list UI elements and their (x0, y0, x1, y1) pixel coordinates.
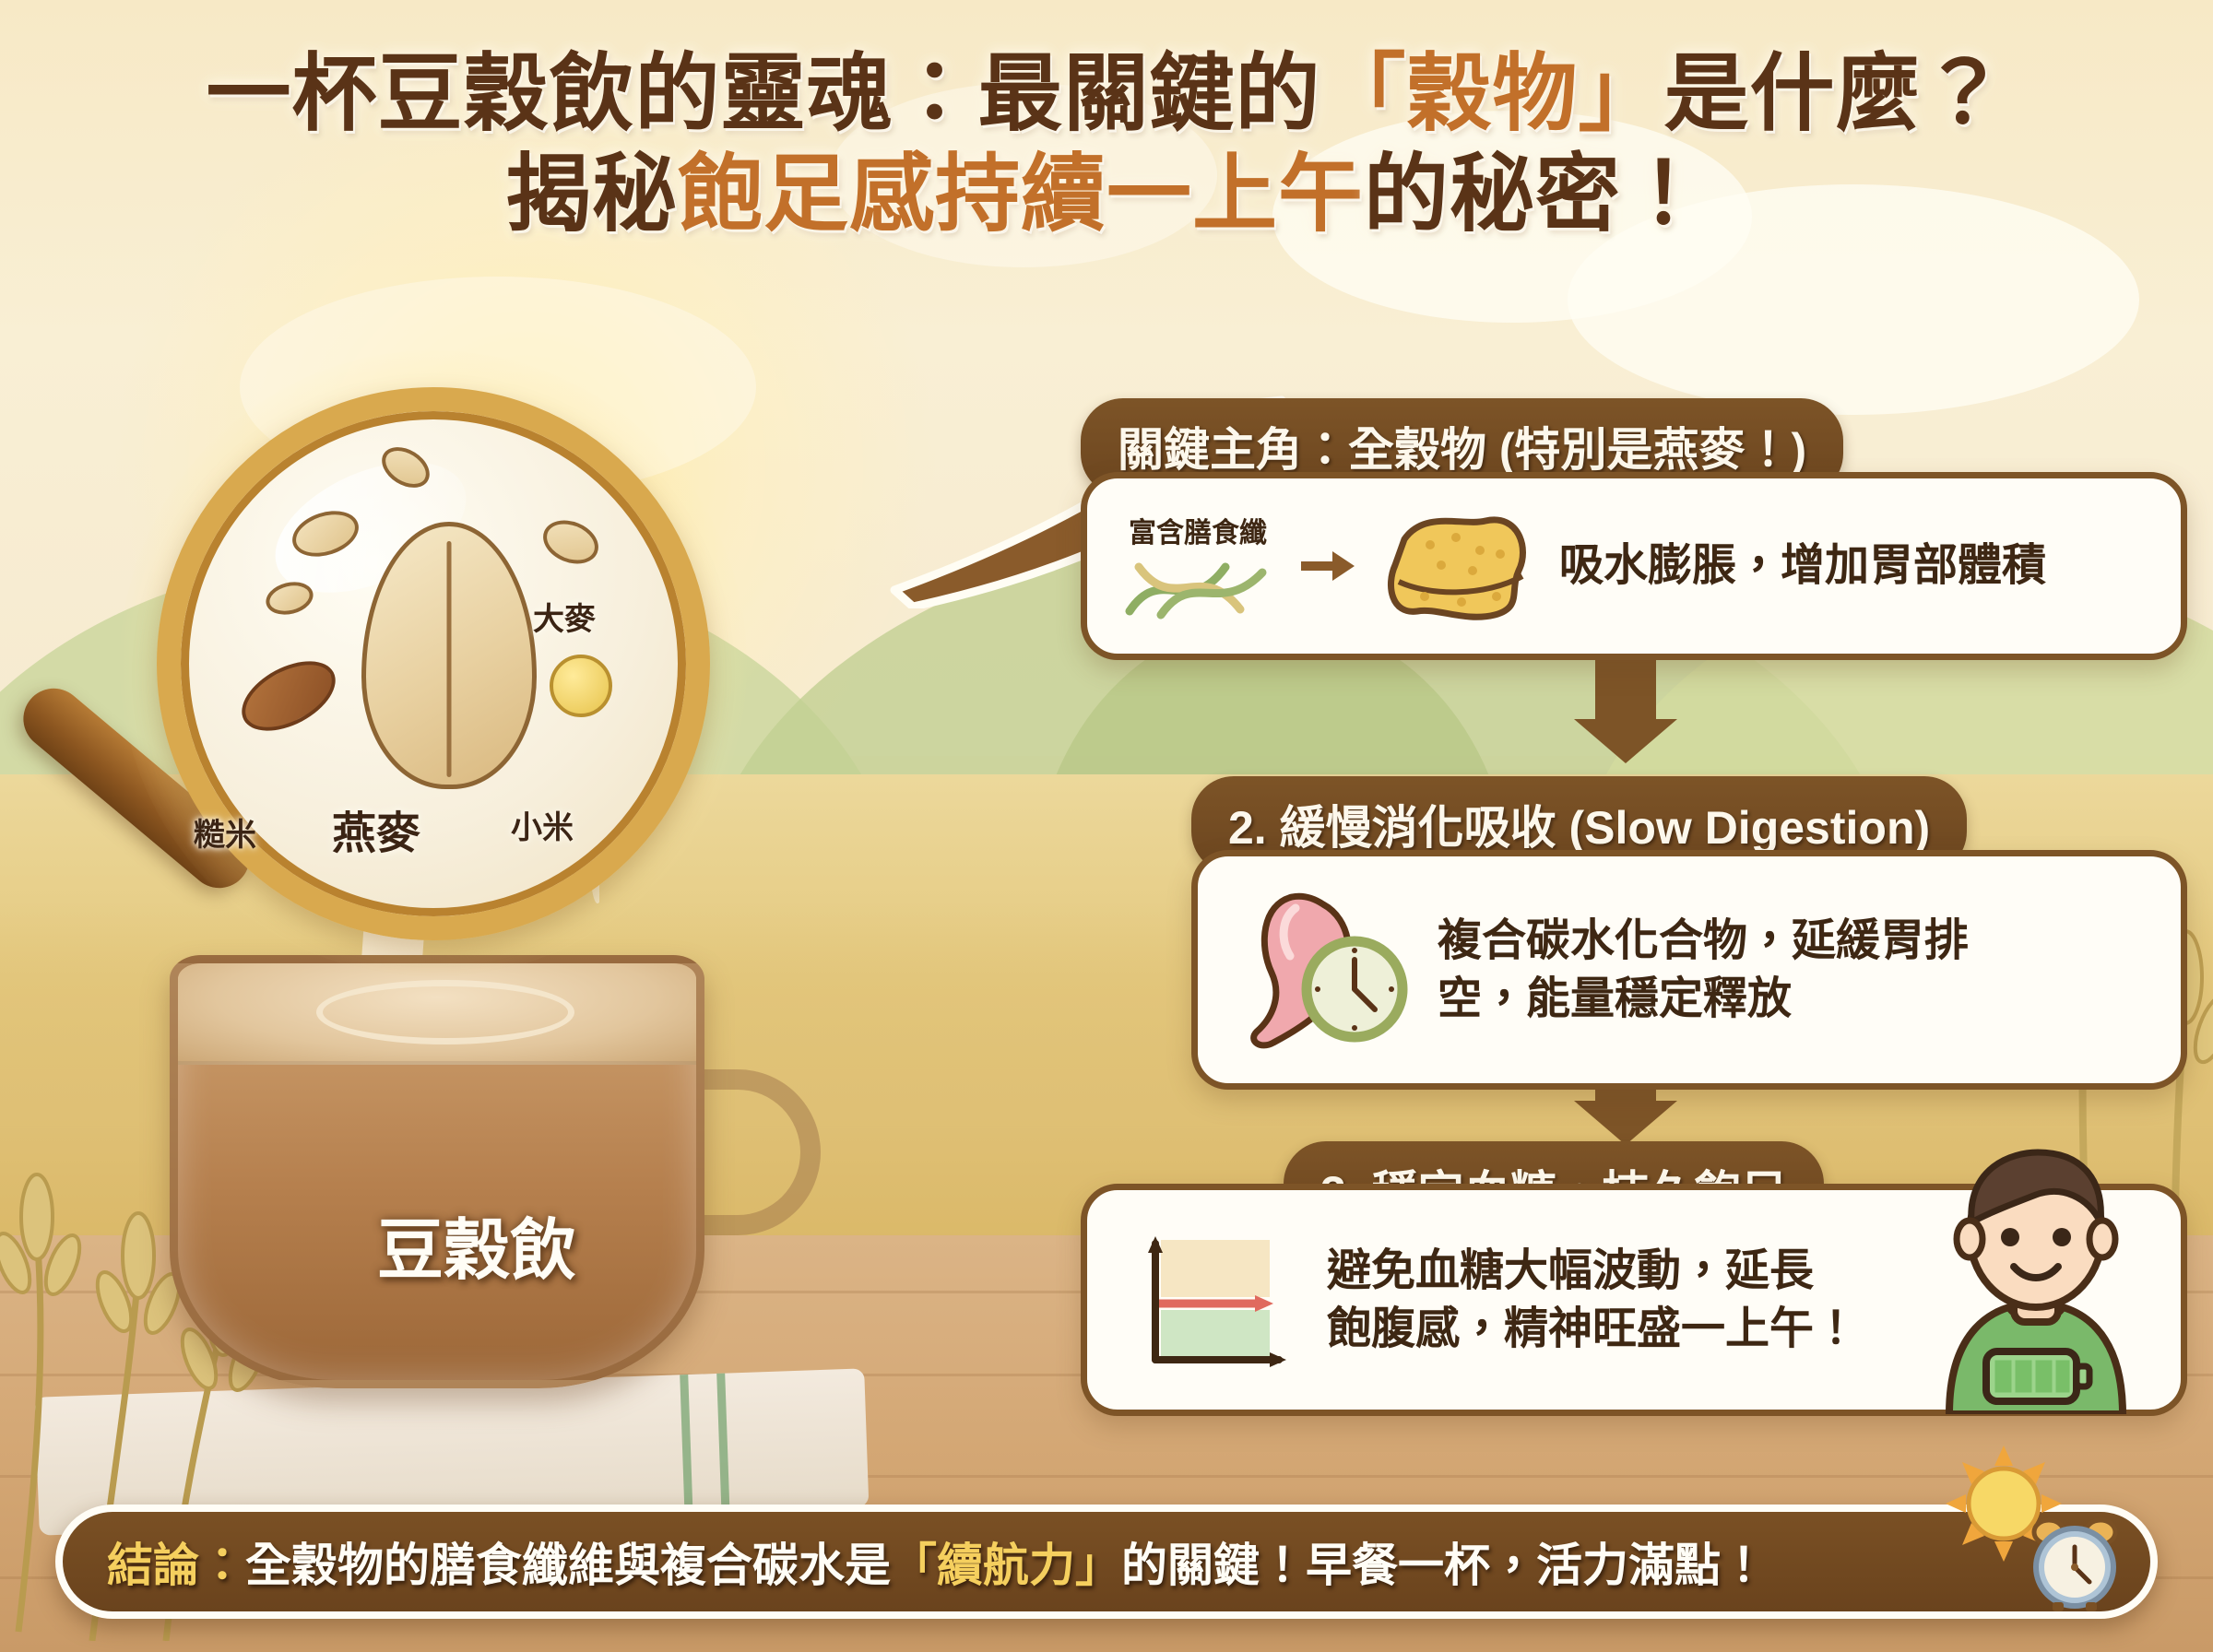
alarm-clock-icon (2025, 1514, 2124, 1613)
magnifier-lens: 大麥 糙米 燕麥 小米 (157, 387, 710, 940)
conclusion-part1: 全穀物的膳食纖維與複合碳水是 (245, 1540, 891, 1591)
card-3-text-line1: 避免血糖大幅波動，延長 (1327, 1242, 1858, 1300)
headline-line2-part2: 的秘密！ (1364, 147, 1707, 242)
card-3-text-line2: 飽腹感，精神旺盛一上午！ (1327, 1300, 1858, 1358)
label-barley: 大麥 (533, 594, 596, 639)
label-oat: 燕麥 (332, 796, 420, 861)
card-2-text-line1: 複合碳水化合物，延緩胃排 (1438, 912, 1969, 970)
headline-line1-part1: 一杯豆穀飲的靈魂：最關鍵的 (206, 47, 1320, 141)
sponge-icon (1384, 512, 1532, 620)
brown-rice-grain-icon (231, 647, 347, 745)
card-slow-digestion: 2. 緩慢消化吸收 (Slow Digestion) 複合碳水化合物，延緩胃排 … (1191, 776, 2187, 1090)
card-3-text: 避免血糖大幅波動，延長 飽腹感，精神旺盛一上午！ (1327, 1242, 1858, 1359)
headline-line2-accent: 飽足感持續一上午 (678, 147, 1364, 242)
glass-mug-icon: 豆穀飲 (138, 931, 802, 1521)
card-key-grain: 關鍵主角：全穀物 (特別是燕麥！) 富含膳食纖 (1081, 398, 2187, 660)
conclusion-part2: 的關鍵！早餐一杯，活力滿點！ (1121, 1540, 1767, 1591)
card-1-caption: 富含膳食纖 (1129, 510, 1267, 550)
right-arrow-icon (1299, 548, 1356, 584)
conclusion-accent: 「續航力」 (891, 1540, 1121, 1591)
headline-line1-accent: 「穀物」 (1320, 47, 1663, 141)
card-2-text-line2: 空，能量穩定釋放 (1438, 970, 1969, 1028)
foam-top (178, 963, 696, 1065)
card-2-body: 複合碳水化合物，延緩胃排 空，能量穩定釋放 (1191, 850, 2187, 1090)
conclusion-banner: 結論：全穀物的膳食纖維與複合碳水是「續航力」的關鍵！早餐一杯，活力滿點！ (55, 1504, 2158, 1619)
mug-body: 豆穀飲 (170, 955, 704, 1388)
card-1-text: 吸水膨脹，增加胃部體積 (1559, 537, 2046, 595)
happy-person-battery-icon (1898, 1138, 2174, 1414)
blood-sugar-chart-icon (1124, 1221, 1299, 1378)
stomach-icon (1235, 888, 1410, 1052)
card-2-text: 複合碳水化合物，延緩胃排 空，能量穩定釋放 (1438, 912, 1969, 1029)
conclusion-text: 結論：全穀物的膳食纖維與複合碳水是「續航力」的關鍵！早餐一杯，活力滿點！ (107, 1528, 1767, 1595)
barley-grain-icon (537, 513, 605, 572)
cup-label: 豆穀飲 (178, 1196, 704, 1292)
label-millet: 小米 (511, 802, 574, 847)
infographic-poster: 一杯豆穀飲的靈魂：最關鍵的「穀物」是什麼？ 揭秘飽足感持續一上午的秘密！ 大麥 … (0, 0, 2213, 1652)
headline-line-2: 揭秘飽足感持續一上午的秘密！ (0, 145, 2213, 245)
headline-line1-part2: 是什麼？ (1664, 47, 2007, 141)
label-brown-rice: 糙米 (194, 809, 256, 855)
conclusion-label: 結論： (107, 1540, 245, 1591)
fiber-illustration: 富含膳食纖 (1124, 510, 1272, 622)
headline-line-1: 一杯豆穀飲的靈魂：最關鍵的「穀物」是什麼？ (0, 44, 2213, 145)
foam-swirl (316, 980, 574, 1044)
magnifier-icon: 大麥 糙米 燕麥 小米 (157, 387, 710, 940)
millet-grain-icon (550, 655, 612, 717)
fiber-strands-icon (1124, 554, 1272, 622)
card-1-body: 富含膳食纖 (1081, 472, 2187, 660)
page-title: 一杯豆穀飲的靈魂：最關鍵的「穀物」是什麼？ 揭秘飽足感持續一上午的秘密！ (0, 44, 2213, 244)
headline-line2-part1: 揭秘 (506, 147, 678, 242)
